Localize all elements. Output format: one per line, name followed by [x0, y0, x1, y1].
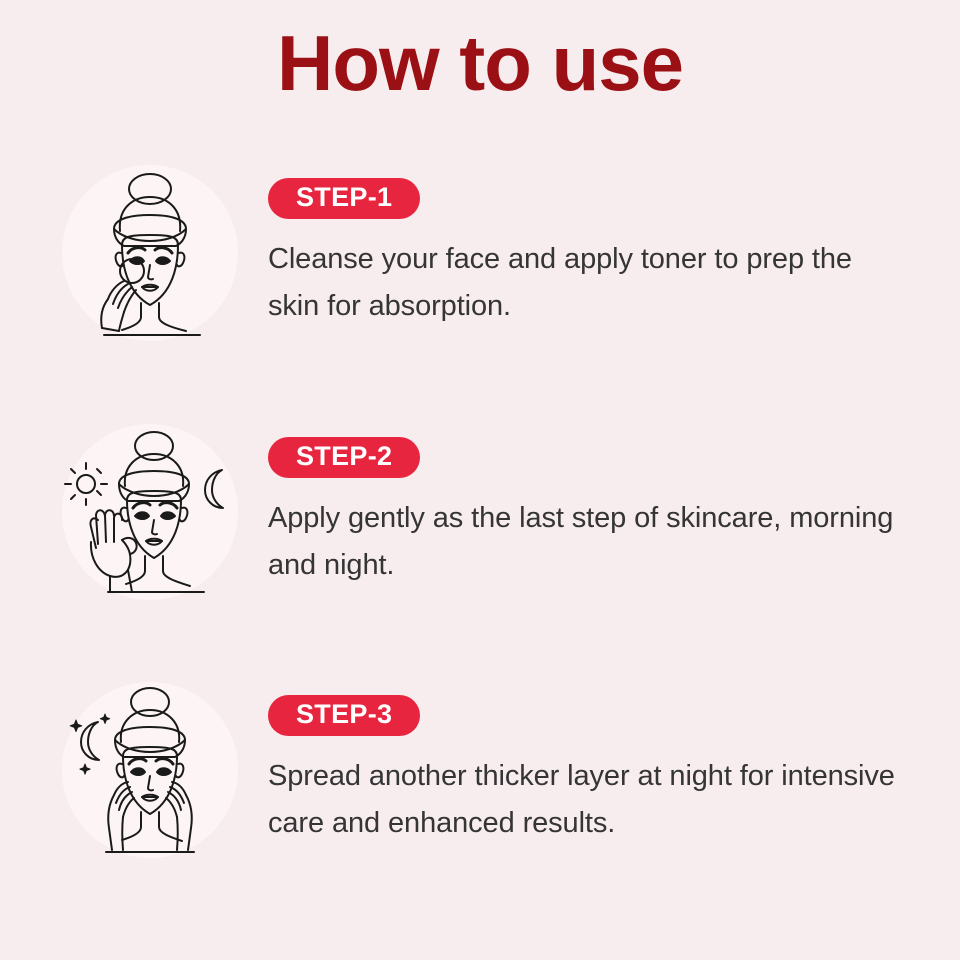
step-2-badge: STEP-2: [268, 437, 420, 478]
step-row-2: STEP-2 Apply gently as the last step of …: [0, 424, 960, 600]
step-row-3: STEP-3 Spread another thicker layer at n…: [0, 682, 960, 858]
woman-applying-cotton-pad-to-cheek-icon: [62, 165, 238, 341]
sun-icon: [65, 463, 107, 505]
step-3-body: STEP-3 Spread another thicker layer at n…: [268, 682, 960, 847]
step-3-badge: STEP-3: [268, 695, 420, 736]
crescent-moon-with-stars-icon: [70, 714, 110, 774]
step-2-body: STEP-2 Apply gently as the last step of …: [268, 424, 960, 589]
step-1-text: Cleanse your face and apply toner to pre…: [268, 236, 908, 330]
step-1-illustration: [62, 165, 238, 341]
step-3-illustration: [62, 682, 238, 858]
woman-applying-cream-with-both-hands-icon: [62, 682, 238, 858]
step-3-text: Spread another thicker layer at night fo…: [268, 753, 908, 847]
step-1-body: STEP-1 Cleanse your face and apply toner…: [268, 165, 960, 330]
step-row-1: STEP-1 Cleanse your face and apply toner…: [0, 165, 960, 341]
step-1-badge: STEP-1: [268, 178, 420, 219]
step-2-text: Apply gently as the last step of skincar…: [268, 495, 908, 589]
step-2-illustration: [62, 424, 238, 600]
how-to-use-infographic: How to use: [0, 0, 960, 960]
page-title: How to use: [0, 24, 960, 102]
crescent-moon-icon: [205, 470, 223, 508]
woman-applying-cream-with-one-hand-icon: [62, 424, 238, 600]
